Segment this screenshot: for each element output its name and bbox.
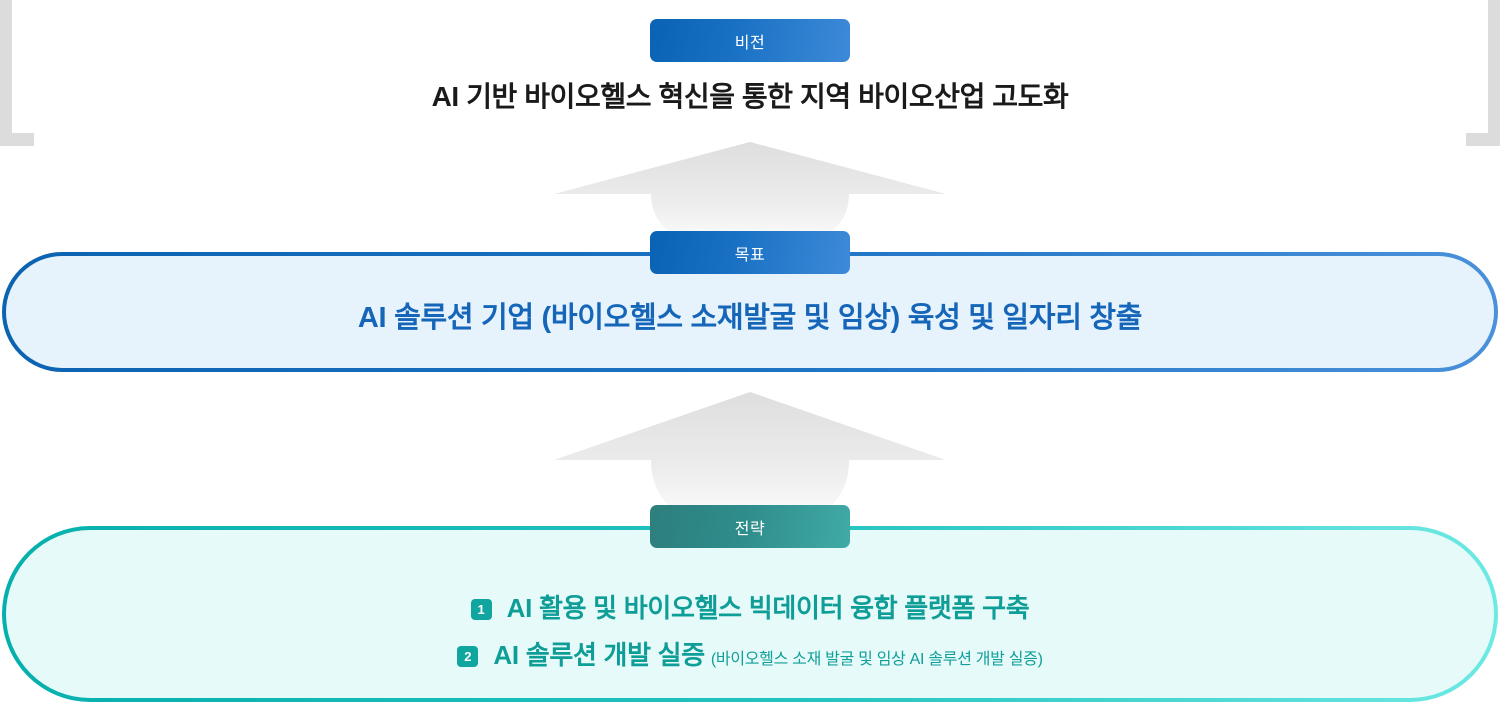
strategy-list: 1 AI 활용 및 바이오헬스 빅데이터 융합 플랫폼 구축 2 AI 솔루션 … <box>6 588 1494 672</box>
vision-badge-label: 비전 <box>735 29 765 53</box>
goal-text: AI 솔루션 기업 (바이오헬스 소재발굴 및 임상) 육성 및 일자리 창출 <box>6 288 1494 336</box>
strategy-badge-label: 전략 <box>735 515 765 539</box>
corner-bracket-left-icon <box>0 0 34 146</box>
goal-badge: 목표 <box>650 231 850 274</box>
vision-title: AI 기반 바이오헬스 혁신을 통한 지역 바이오산업 고도화 <box>0 75 1500 115</box>
bracket-right-horizontal-bar <box>1466 133 1500 146</box>
strategy-badge: 전략 <box>650 505 850 548</box>
strategy-main-text-2: AI 솔루션 개발 실증 <box>493 640 705 670</box>
strategy-text-2: AI 솔루션 개발 실증(바이오헬스 소재 발굴 및 임상 AI 솔루션 개발 … <box>493 635 1042 672</box>
strategy-number-badge-1: 1 <box>471 599 492 620</box>
strategy-number-badge-2: 2 <box>457 646 478 667</box>
strategy-sub-text-2: (바이오헬스 소재 발굴 및 임상 AI 솔루션 개발 실증) <box>711 651 1043 668</box>
strategy-panel: 1 AI 활용 및 바이오헬스 빅데이터 융합 플랫폼 구축 2 AI 솔루션 … <box>2 526 1498 702</box>
vision-badge: 비전 <box>650 19 850 62</box>
goal-badge-label: 목표 <box>735 241 765 265</box>
bracket-left-horizontal-bar <box>0 133 34 146</box>
strategy-item-1: 1 AI 활용 및 바이오헬스 빅데이터 융합 플랫폼 구축 <box>471 588 1030 625</box>
strategy-main-text-1: AI 활용 및 바이오헬스 빅데이터 융합 플랫폼 구축 <box>507 593 1030 623</box>
bracket-right-vertical-bar <box>1488 0 1500 146</box>
strategy-text-1: AI 활용 및 바이오헬스 빅데이터 융합 플랫폼 구축 <box>507 588 1030 625</box>
corner-bracket-right-icon <box>1466 0 1500 146</box>
strategy-item-2: 2 AI 솔루션 개발 실증(바이오헬스 소재 발굴 및 임상 AI 솔루션 개… <box>457 635 1042 672</box>
strategy-framework-diagram: 비전 AI 기반 바이오헬스 혁신을 통한 지역 바이오산업 고도화 AI 솔루… <box>0 0 1500 726</box>
bracket-left-vertical-bar <box>0 0 12 146</box>
